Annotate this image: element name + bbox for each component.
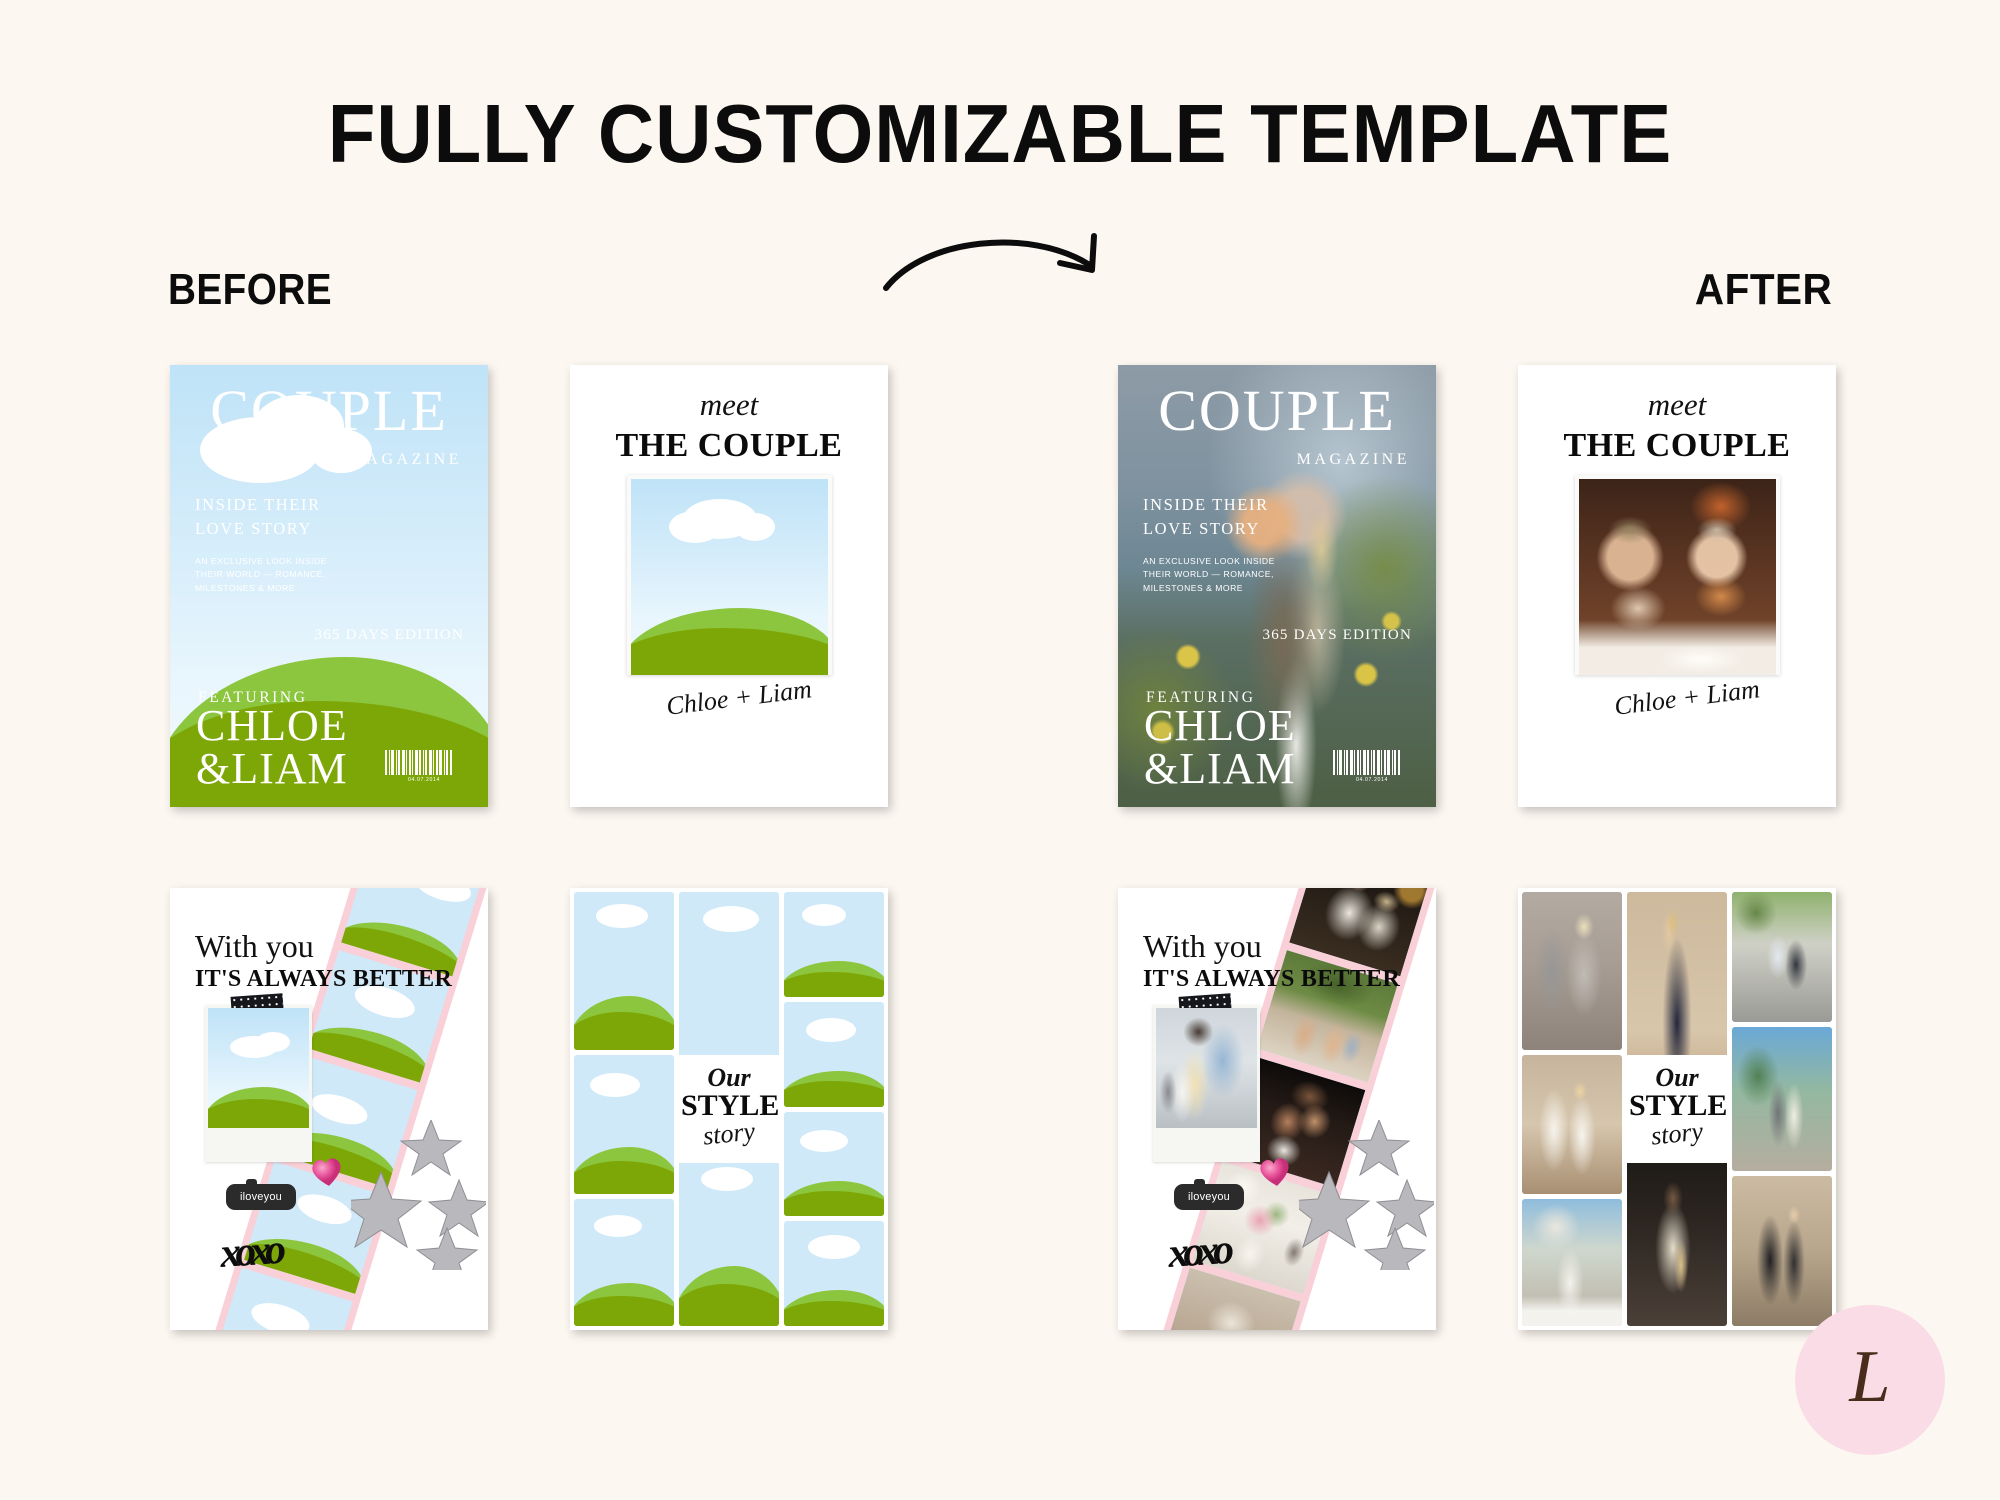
couple-photo bbox=[1522, 1055, 1622, 1194]
couple-photo bbox=[1156, 1008, 1257, 1128]
card-before-meet-couple[interactable]: meet THE COUPLE Chloe + Liam bbox=[570, 365, 888, 807]
barcode: 04.07.2014 bbox=[1333, 750, 1411, 783]
signature: Chloe + Liam bbox=[1613, 674, 1762, 722]
cover-names: CHLOE &LIAM bbox=[1144, 705, 1296, 790]
cover-magazine-word: MAGAZINE bbox=[1297, 451, 1410, 469]
cover-names: CHLOE &LIAM bbox=[196, 705, 348, 790]
couple-photo bbox=[1732, 1176, 1832, 1326]
brand-logo[interactable]: L bbox=[1795, 1305, 1945, 1455]
couple-photo bbox=[1732, 1027, 1832, 1171]
with-you-line2: IT'S ALWAYS BETTER bbox=[195, 966, 452, 993]
label-before: BEFORE bbox=[168, 265, 332, 315]
with-you-line1: With you bbox=[1143, 928, 1262, 965]
with-you-line2: IT'S ALWAYS BETTER bbox=[1143, 966, 1400, 993]
cover-subcopy: AN EXCLUSIVE LOOK INSIDE THEIR WORLD — R… bbox=[195, 555, 345, 595]
cover-edition: 365 DAYS EDITION bbox=[1263, 627, 1412, 644]
barcode-date: 04.07.2014 bbox=[1333, 777, 1411, 783]
xoxo-sticker: xoxo bbox=[1166, 1226, 1229, 1278]
with-you-line1: With you bbox=[195, 928, 314, 965]
page-title: FULLY CUSTOMIZABLE TEMPLATE bbox=[60, 86, 1940, 182]
card-after-with-you[interactable]: With you IT'S ALWAYS BETTER ilove bbox=[1118, 888, 1436, 1330]
card-before-style-story[interactable]: Our STYLE story bbox=[570, 888, 888, 1330]
style-line1: Our bbox=[1629, 1065, 1725, 1091]
meet-bold-text: THE COUPLE bbox=[1518, 427, 1836, 465]
cover-title: COUPLE bbox=[1118, 382, 1436, 440]
card-after-style-story[interactable]: Our STYLE story bbox=[1518, 888, 1836, 1330]
couple-photo bbox=[1522, 892, 1622, 1050]
polaroid-frame[interactable] bbox=[1153, 1005, 1260, 1162]
polaroid-frame[interactable] bbox=[205, 1005, 312, 1162]
cover-magazine-word: MAGAZINE bbox=[349, 451, 462, 469]
couple-photo bbox=[1579, 479, 1776, 675]
placeholder-image bbox=[631, 479, 828, 675]
signature: Chloe + Liam bbox=[665, 674, 814, 722]
cover-headline: INSIDE THEIR LOVE STORY bbox=[1143, 493, 1269, 541]
meet-bold-text: THE COUPLE bbox=[570, 427, 888, 465]
cover-headline: INSIDE THEIR LOVE STORY bbox=[195, 493, 321, 541]
polaroid-frame[interactable] bbox=[1575, 475, 1780, 675]
card-after-magazine-cover[interactable]: COUPLE MAGAZINE INSIDE THEIR LOVE STORY … bbox=[1118, 365, 1436, 807]
glitter-heart-icon bbox=[308, 1154, 346, 1189]
style-story-label: Our STYLE story bbox=[677, 1055, 781, 1163]
meet-script-text: meet bbox=[570, 387, 888, 423]
curved-arrow-icon bbox=[880, 230, 1120, 300]
cover-edition: 365 DAYS EDITION bbox=[315, 627, 464, 644]
couple-photo bbox=[1732, 892, 1832, 1022]
polaroid-frame[interactable] bbox=[627, 475, 832, 675]
barcode-date: 04.07.2014 bbox=[385, 777, 463, 783]
glitter-heart-icon bbox=[1256, 1154, 1294, 1189]
placeholder-image bbox=[208, 1008, 309, 1128]
glitter-stars-icon bbox=[351, 1120, 486, 1270]
style-line1: Our bbox=[681, 1065, 777, 1091]
style-story-label: Our STYLE story bbox=[1625, 1055, 1729, 1163]
card-before-with-you[interactable]: With you IT'S ALWAYS BETTER iloveyou xox… bbox=[170, 888, 488, 1330]
cover-title: COUPLE bbox=[170, 382, 488, 440]
meet-script-text: meet bbox=[1518, 387, 1836, 423]
cover-subcopy: AN EXCLUSIVE LOOK INSIDE THEIR WORLD — R… bbox=[1143, 555, 1293, 595]
couple-photo bbox=[1627, 1149, 1727, 1326]
logo-letter: L bbox=[1849, 1340, 1890, 1414]
card-after-meet-couple[interactable]: meet THE COUPLE Chloe + Liam bbox=[1518, 365, 1836, 807]
couple-photo bbox=[1522, 1199, 1622, 1326]
glitter-stars-icon bbox=[1299, 1120, 1434, 1270]
xoxo-sticker: xoxo bbox=[218, 1226, 281, 1278]
iloveyou-sticker: iloveyou bbox=[226, 1184, 296, 1210]
barcode: 04.07.2014 bbox=[385, 750, 463, 783]
iloveyou-sticker: iloveyou bbox=[1174, 1184, 1244, 1210]
card-before-magazine-cover[interactable]: COUPLE MAGAZINE INSIDE THEIR LOVE STORY … bbox=[170, 365, 488, 807]
label-after: AFTER bbox=[1695, 265, 1832, 315]
